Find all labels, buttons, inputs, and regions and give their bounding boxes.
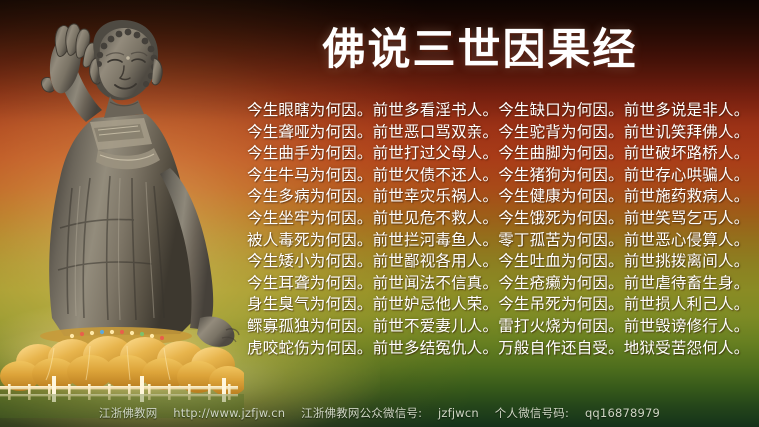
verse-line: 今生多病为何因。前世幸灾乐祸人。今生健康为何因。前世施药救病人。 (247, 186, 717, 208)
verse-line: 虎咬蛇伤为何因。前世多结冤仇人。万般自作还自受。地狱受苦怨何人。 (247, 338, 717, 360)
footer-wechat-value: jzfjwcn (438, 406, 479, 420)
footer-wechat-label: 江浙佛教网公众微信号: (301, 406, 422, 420)
poster-canvas: 佛说三世因果经 今生眼瞎为何因。前世多看淫书人。今生缺口为何因。前世多说是非人。… (0, 0, 759, 427)
footer-url[interactable]: http://www.jzfjw.cn (173, 406, 285, 420)
verse-line: 今生曲手为何因。前世打过父母人。今生曲脚为何因。前世破坏路桥人。 (247, 143, 717, 165)
verse-line: 身生臭气为何因。前世妒忌他人荣。今生吊死为何因。前世损人利己人。 (247, 294, 717, 316)
verse-line: 鳏寡孤独为何因。前世不爱妻儿人。雷打火烧为何因。前世毁谤修行人。 (247, 316, 717, 338)
verse-line: 今生聋哑为何因。前世恶口骂双亲。今生驼背为何因。前世讥笑拜佛人。 (247, 122, 717, 144)
verse-line: 今生耳聋为何因。前世闻法不信真。今生疮癞为何因。前世虐待畜生身。 (247, 273, 717, 295)
sutra-verse-block: 今生眼瞎为何因。前世多看淫书人。今生缺口为何因。前世多说是非人。 今生聋哑为何因… (247, 100, 717, 359)
verse-line: 今生坐牢为何因。前世见危不救人。今生饿死为何因。前世笑骂乞丐人。 (247, 208, 717, 230)
footer-personal-value: qq16878979 (585, 406, 660, 420)
verse-line: 被人毒死为何因。前世拦河毒鱼人。零丁孤苦为何因。前世恶心侵算人。 (247, 230, 717, 252)
footer-personal-label: 个人微信号码: (495, 406, 569, 420)
verse-line: 今生矮小为何因。前世鄙视各用人。今生吐血为何因。前世挑拨离间人。 (247, 251, 717, 273)
verse-line: 今生牛马为何因。前世欠债不还人。今生猪狗为何因。前世存心哄骗人。 (247, 165, 717, 187)
footer-credits: 江浙佛教网 http://www.jzfjw.cn 江浙佛教网公众微信号: jz… (0, 405, 759, 421)
verse-line: 今生眼瞎为何因。前世多看淫书人。今生缺口为何因。前世多说是非人。 (247, 100, 717, 122)
footer-site-name: 江浙佛教网 (99, 406, 158, 420)
page-title: 佛说三世因果经 (240, 22, 720, 78)
